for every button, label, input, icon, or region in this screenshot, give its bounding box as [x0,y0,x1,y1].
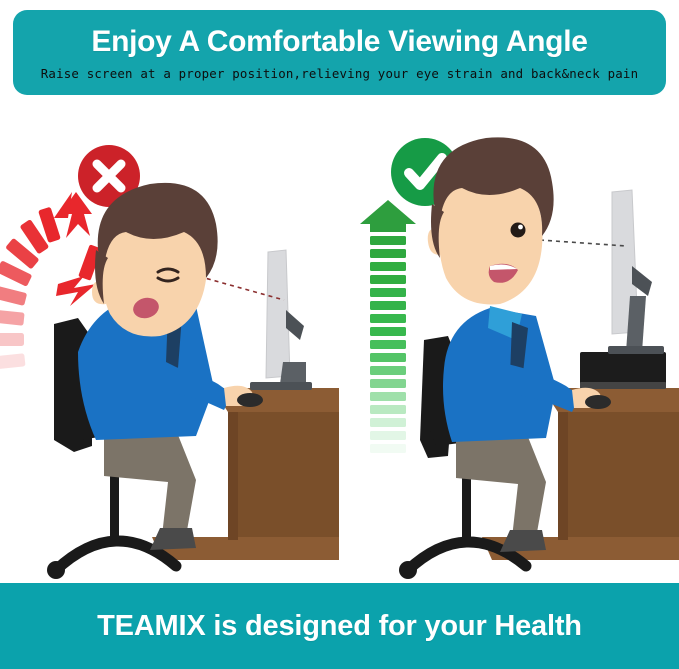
footer-title: TEAMIX is designed for your Health [97,610,582,643]
incorrect-posture-scene [0,100,339,580]
header-banner: Enjoy A Comfortable Viewing Angle Raise … [13,10,666,95]
monitor [250,250,312,390]
illustration-area [0,100,679,580]
head-smiling [428,137,554,304]
monitor-riser [580,352,666,389]
infographic-page: Enjoy A Comfortable Viewing Angle Raise … [0,0,679,669]
page-title: Enjoy A Comfortable Viewing Angle [91,25,587,59]
correct-posture-scene [340,100,679,580]
monitor [608,190,664,354]
page-subtitle: Raise screen at a proper position,reliev… [41,66,638,82]
head-strained [92,183,218,337]
footer-banner: TEAMIX is designed for your Health [0,583,679,669]
green-rise-arrow-icon [360,200,416,453]
